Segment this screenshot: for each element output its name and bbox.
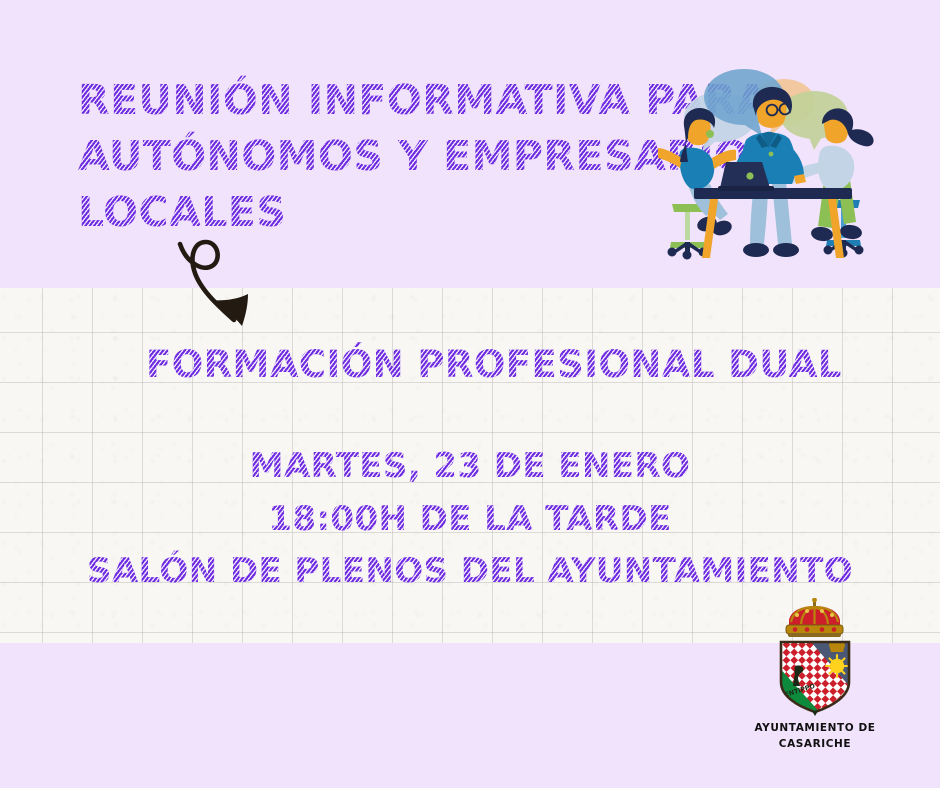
small-crown-icon — [829, 636, 845, 652]
logo-caption-line-1: AYUNTAMIENTO DE — [745, 720, 885, 736]
logo-caption: AYUNTAMIENTO DE CASARICHE — [745, 720, 885, 753]
sun-icon — [826, 655, 848, 677]
curly-arrow-icon — [160, 222, 280, 342]
detail-date-stripe: MARTES, 23 DE ENERO — [0, 444, 940, 488]
crown-icon — [786, 598, 843, 637]
detail-time-stripe: 18:00H DE LA TARDE — [0, 497, 940, 541]
subtitle-stripe-overlay: FORMACIÓN PROFESIONAL DUAL — [146, 341, 842, 389]
detail-venue-stripe: SALÓN DE PLENOS DEL AYUNTAMIENTO — [0, 549, 940, 593]
casariche-logo: VENTIPPO AYUNTAMIENTO DE CASARICHE — [745, 598, 885, 763]
logo-caption-line-2: CASARICHE — [745, 736, 885, 752]
casariche-coat-of-arms: VENTIPPO — [767, 598, 863, 716]
business-meeting-illustration — [658, 52, 878, 277]
poster-canvas: REUNIÓN INFORMATIVA PARA AUTÓNOMOS Y EMP… — [0, 0, 940, 788]
shield: VENTIPPO — [767, 636, 863, 716]
